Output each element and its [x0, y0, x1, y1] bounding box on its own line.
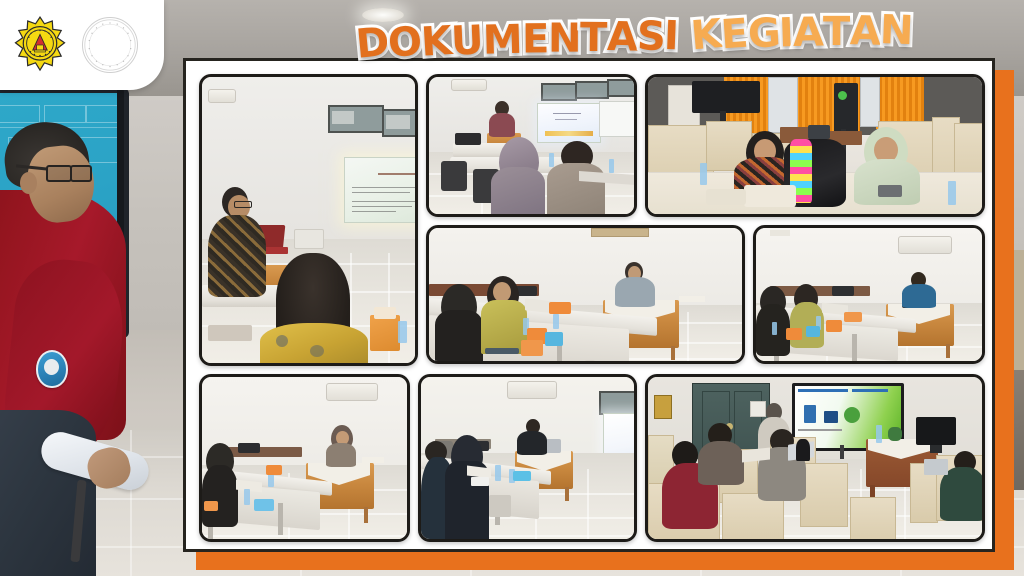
photo-grid: [199, 74, 985, 542]
photo-7[interactable]: [418, 374, 637, 542]
title-word-kegiatan: KEGIATAN: [691, 7, 913, 58]
title-word-dokumentasi: DOKUMENTASI: [356, 13, 679, 67]
photo-5[interactable]: [753, 225, 985, 364]
eyeglasses-icon: [46, 165, 94, 181]
lppm-unsoed-logo: [82, 17, 138, 73]
photo-2[interactable]: [426, 74, 637, 217]
photo-3[interactable]: [645, 74, 985, 217]
photo-8[interactable]: [645, 374, 985, 542]
photo-collage-panel: [183, 58, 995, 552]
slide-canvas: AL NG: [0, 0, 1024, 576]
presenter-figure: AL NG: [0, 110, 146, 576]
photo-6[interactable]: [199, 374, 410, 542]
universitas-jenderal-soedirman-logo: [12, 16, 68, 74]
institution-logo-card: [0, 0, 164, 90]
presenter-ear: [20, 172, 37, 194]
photo-1[interactable]: [199, 74, 418, 366]
shirt-badge-patch: [36, 350, 68, 388]
photo-4[interactable]: [426, 225, 745, 364]
